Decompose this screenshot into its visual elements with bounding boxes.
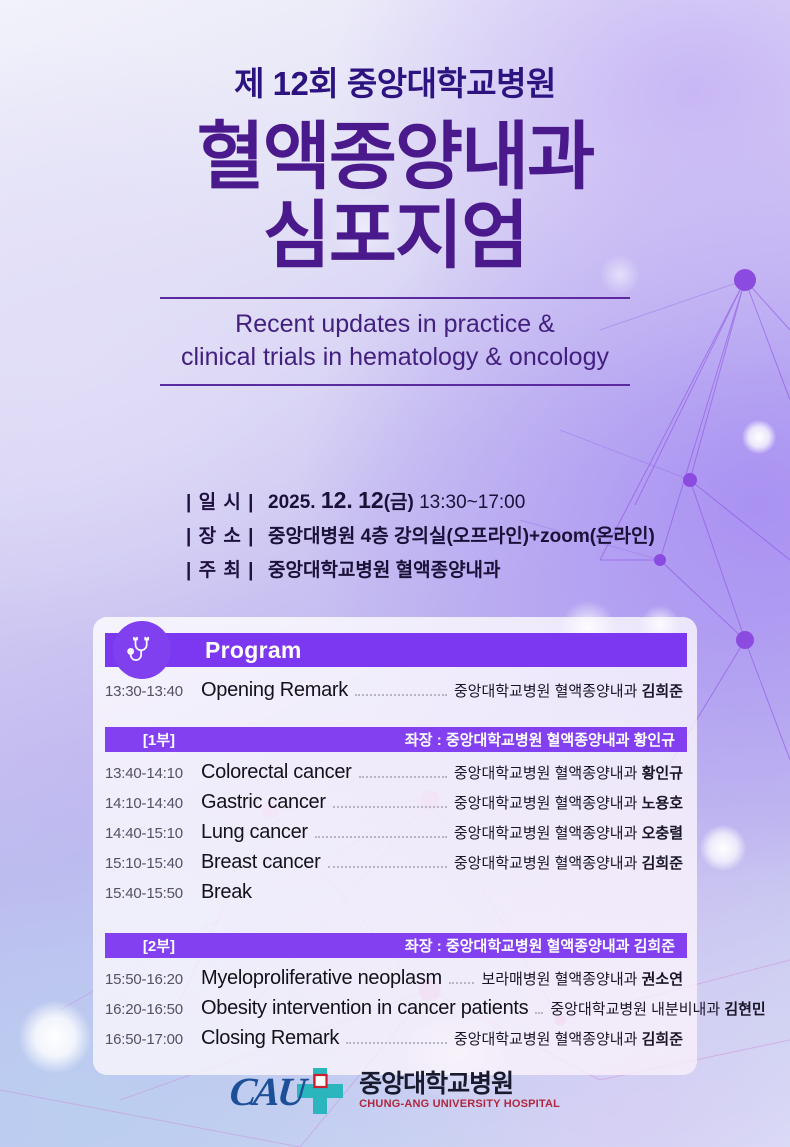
event-year: 2025. <box>268 492 316 513</box>
session-speaker: 중앙대학교병원 내분비내과 김현민 <box>550 998 765 1019</box>
session-speaker: 중앙대학교병원 혈액종양내과 김희준 <box>454 852 683 873</box>
session-time: 13:40-14:10 <box>105 765 201 782</box>
session-time: 16:20-16:50 <box>105 1001 201 1018</box>
session-title: Opening Remark <box>201 679 348 702</box>
session-speaker-name: 김희준 <box>642 1031 683 1048</box>
event-detail-datetime: | 일 시 | 2025. 12. 12(금) 13:30~17:00 <box>186 487 655 514</box>
event-day: 12 <box>358 487 384 513</box>
session-time: 14:40-15:10 <box>105 825 201 842</box>
part-header-bar: [2부] 좌장 : 중앙대학교병원 혈액종양내과 김희준 <box>105 933 687 958</box>
session-row: 15:10-15:40 Breast cancer 중앙대학교병원 혈액종양내과… <box>93 851 697 881</box>
bokeh-glow <box>18 1000 92 1074</box>
session-affiliation: 보라매병원 혈액종양내과 <box>481 971 637 988</box>
session-dot-leader <box>333 806 447 808</box>
poster-subtitle-line1: Recent updates in practice & <box>160 308 630 341</box>
part-header-bar: [1부] 좌장 : 중앙대학교병원 혈액종양내과 황인규 <box>105 727 687 752</box>
session-speaker-name: 김희준 <box>642 683 683 700</box>
session-row: 13:30-13:40 Opening Remark 중앙대학교병원 혈액종양내… <box>93 679 697 709</box>
event-detail-value: 중앙대병원 4층 강의실(오프라인)+zoom(온라인) <box>268 521 655 548</box>
session-title: Gastric cancer <box>201 791 326 814</box>
session-dot-leader <box>449 982 475 984</box>
hospital-name-kr: 중앙대학교병원 <box>359 1071 560 1098</box>
poster-title-line1: 혈액종양내과 <box>197 115 593 198</box>
session-affiliation: 중앙대학교병원 내분비내과 <box>550 1001 720 1018</box>
session-speaker-name: 김희준 <box>642 855 683 872</box>
session-speaker-name: 권소연 <box>642 971 683 988</box>
poster-subtitle-line2: clinical trials in hematology & oncology <box>160 341 630 374</box>
event-detail-value: 중앙대학교병원 혈액종양내과 <box>268 555 501 582</box>
event-detail-value: 2025. 12. 12(금) 13:30~17:00 <box>268 487 525 514</box>
session-dot-leader <box>355 694 447 696</box>
session-title: Colorectal cancer <box>201 761 352 784</box>
stethoscope-icon <box>113 621 171 679</box>
session-time: 15:10-15:40 <box>105 855 201 872</box>
session-speaker-name: 황인규 <box>642 765 683 782</box>
session-affiliation: 중앙대학교병원 혈액종양내과 <box>454 855 638 872</box>
session-speaker-name: 김현민 <box>724 1001 765 1018</box>
section-gap <box>93 911 697 923</box>
event-detail-host: | 주 최 | 중앙대학교병원 혈액종양내과 <box>186 555 655 582</box>
session-affiliation: 중앙대학교병원 혈액종양내과 <box>454 795 638 812</box>
poster-title-line2: 심포지엄 <box>0 197 790 275</box>
session-row: 14:10-14:40 Gastric cancer 중앙대학교병원 혈액종양내… <box>93 791 697 821</box>
event-detail-venue: | 장 소 | 중앙대병원 4층 강의실(오프라인)+zoom(온라인) <box>186 521 655 548</box>
part-label: [2부] <box>105 935 213 956</box>
session-affiliation: 중앙대학교병원 혈액종양내과 <box>454 683 638 700</box>
hospital-name-en: CHUNG-ANG UNIVERSITY HOSPITAL <box>359 1099 560 1111</box>
event-details: | 일 시 | 2025. 12. 12(금) 13:30~17:00 | 장 … <box>186 487 655 589</box>
part-chair: 좌장 : 중앙대학교병원 혈액종양내과 황인규 <box>405 729 675 750</box>
bokeh-glow <box>742 420 776 454</box>
session-speaker: 중앙대학교병원 혈액종양내과 오충렬 <box>454 822 683 843</box>
session-row: 16:20-16:50 Obesity intervention in canc… <box>93 997 697 1027</box>
event-weekday: (금) <box>384 492 414 513</box>
session-speaker: 중앙대학교병원 혈액종양내과 노용호 <box>454 792 683 813</box>
session-time: 13:30-13:40 <box>105 683 201 700</box>
session-row: 14:40-15:10 Lung cancer 중앙대학교병원 혈액종양내과 오… <box>93 821 697 851</box>
session-speaker-name: 오충렬 <box>642 825 683 842</box>
session-speaker: 중앙대학교병원 혈액종양내과 황인규 <box>454 762 683 783</box>
session-dot-leader <box>315 836 447 838</box>
session-row: 13:40-14:10 Colorectal cancer 중앙대학교병원 혈액… <box>93 761 697 791</box>
program-panel: Program 13:30-13:40 Opening Remark 중앙대학교… <box>93 617 697 1075</box>
poster: 제 12회 중앙대학교병원 혈액종양내과 심포지엄 Recent updates… <box>0 0 790 1147</box>
part-label: [1부] <box>105 729 213 750</box>
event-detail-label: | 주 최 | <box>186 555 268 582</box>
poster-title: 혈액종양내과 심포지엄 <box>0 118 790 275</box>
session-affiliation: 중앙대학교병원 혈액종양내과 <box>454 765 638 782</box>
session-time: 15:40-15:50 <box>105 885 201 902</box>
session-time: 15:50-16:20 <box>105 971 201 988</box>
event-month: 12. <box>321 487 353 513</box>
session-title: Closing Remark <box>201 1027 339 1050</box>
session-time: 16:50-17:00 <box>105 1031 201 1048</box>
session-speaker-name: 노용호 <box>642 795 683 812</box>
session-row: 15:50-16:20 Myeloproliferative neoplasm … <box>93 967 697 997</box>
session-speaker: 중앙대학교병원 혈액종양내과 김희준 <box>454 680 683 701</box>
event-detail-label: | 장 소 | <box>186 521 268 548</box>
poster-subtitle: Recent updates in practice & clinical tr… <box>160 297 630 386</box>
session-time: 14:10-14:40 <box>105 795 201 812</box>
session-title: Breast cancer <box>201 851 321 874</box>
event-time: 13:30~17:00 <box>419 492 525 513</box>
session-dot-leader <box>346 1042 447 1044</box>
poster-kicker: 제 12회 중앙대학교병원 <box>0 66 790 102</box>
session-row-break: 15:40-15:50 Break <box>93 881 697 911</box>
session-affiliation: 중앙대학교병원 혈액종양내과 <box>454 825 638 842</box>
session-row: 16:50-17:00 Closing Remark 중앙대학교병원 혈액종양내… <box>93 1027 697 1057</box>
session-title: Lung cancer <box>201 821 308 844</box>
session-title: Obesity intervention in cancer patients <box>201 997 528 1020</box>
session-title: Break <box>201 881 252 904</box>
event-detail-label: | 일 시 | <box>186 487 268 514</box>
session-speaker: 중앙대학교병원 혈액종양내과 김희준 <box>454 1028 683 1049</box>
session-title: Myeloproliferative neoplasm <box>201 967 442 990</box>
session-affiliation: 중앙대학교병원 혈액종양내과 <box>454 1031 638 1048</box>
bokeh-glow <box>700 825 746 871</box>
session-speaker: 보라매병원 혈액종양내과 권소연 <box>481 968 683 989</box>
program-title: Program <box>205 637 302 664</box>
session-dot-leader <box>359 776 447 778</box>
hospital-name-block: 중앙대학교병원 CHUNG-ANG UNIVERSITY HOSPITAL <box>359 1071 560 1111</box>
session-dot-leader <box>535 1012 543 1014</box>
footer-logo: CAU 중앙대학교병원 CHUNG-ANG UNIVERSITY HOSPITA… <box>0 1064 790 1118</box>
poster-header: 제 12회 중앙대학교병원 혈액종양내과 심포지엄 Recent updates… <box>0 0 790 386</box>
cau-wordmark: CAU <box>227 1068 305 1115</box>
part-chair: 좌장 : 중앙대학교병원 혈액종양내과 김희준 <box>405 935 675 956</box>
session-dot-leader <box>328 866 447 868</box>
program-header-bar: Program <box>105 633 687 667</box>
